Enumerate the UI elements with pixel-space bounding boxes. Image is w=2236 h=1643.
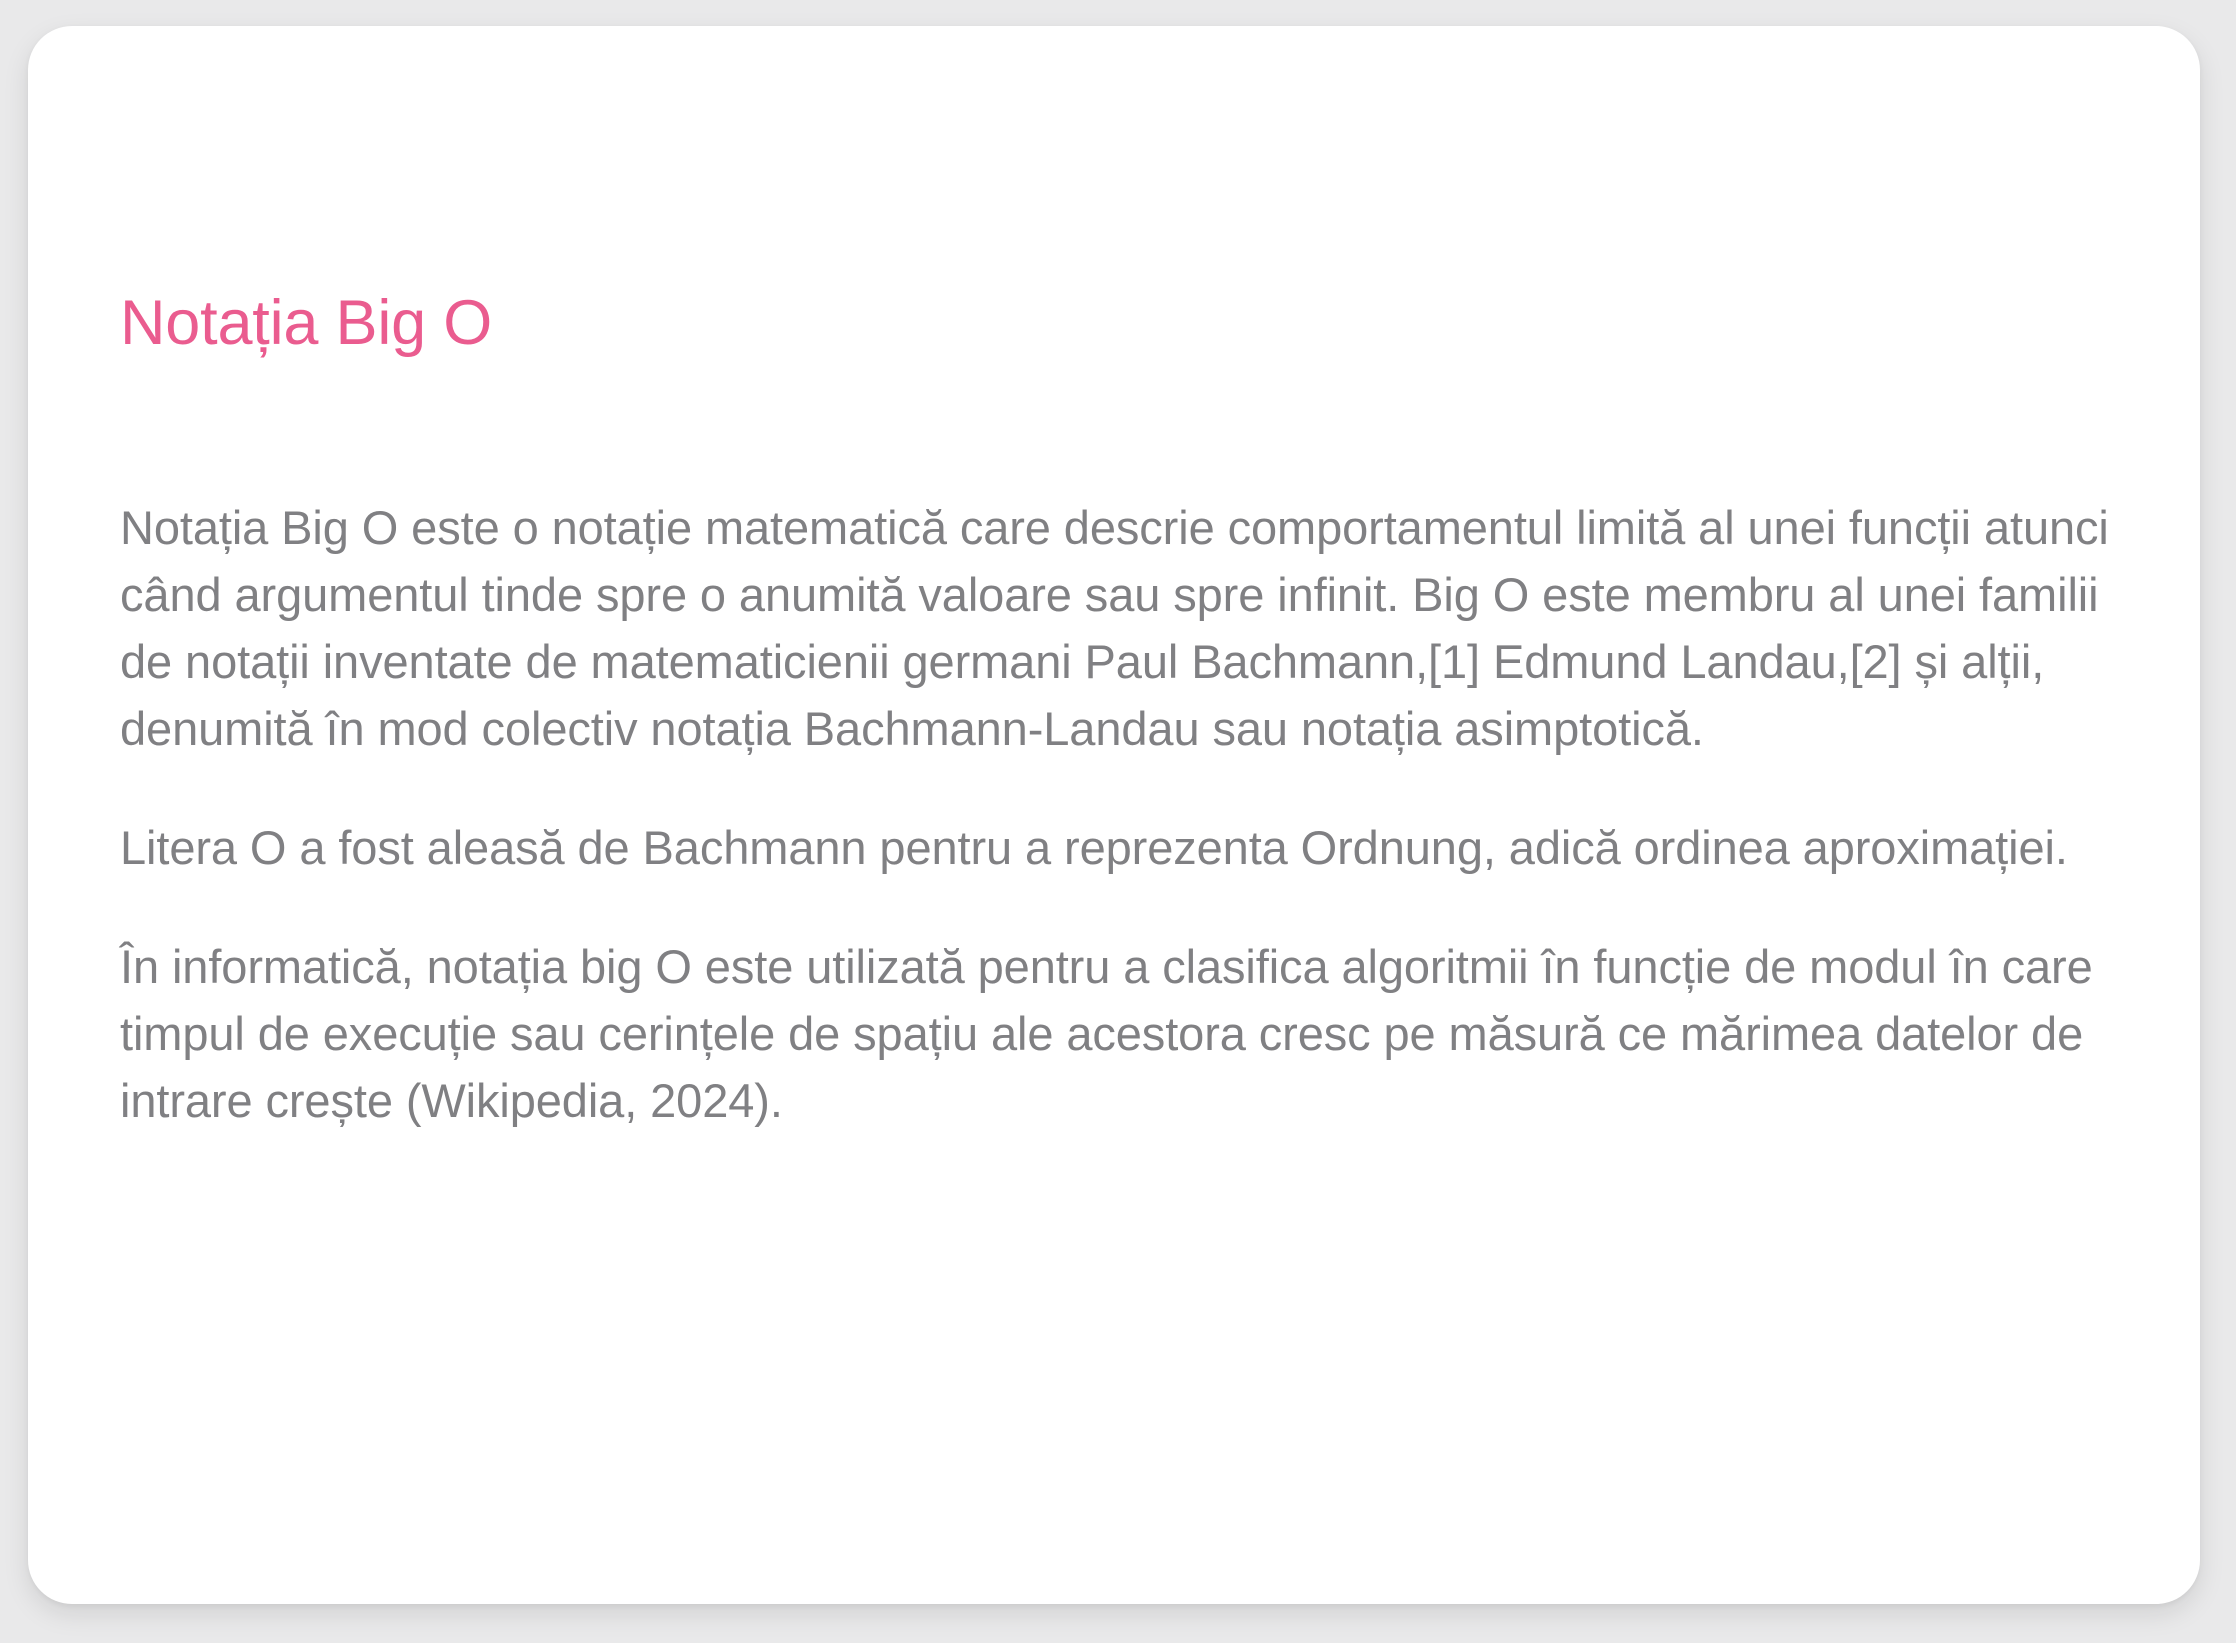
- article-paragraph: Litera O a fost aleasă de Bachmann pentr…: [120, 814, 2110, 881]
- article-body: Notația Big O este o notație matematică …: [120, 494, 2110, 1134]
- page-title: Notația Big O: [120, 288, 492, 359]
- article-card-inner: Notația Big O Notația Big O este o notaț…: [28, 26, 2200, 1604]
- article-card: Notația Big O Notația Big O este o notaț…: [28, 26, 2200, 1604]
- article-paragraph: Notația Big O este o notație matematică …: [120, 494, 2110, 762]
- article-paragraph: În informatică, notația big O este utili…: [120, 933, 2110, 1134]
- page-stage: Notația Big O Notația Big O este o notaț…: [0, 0, 2236, 1643]
